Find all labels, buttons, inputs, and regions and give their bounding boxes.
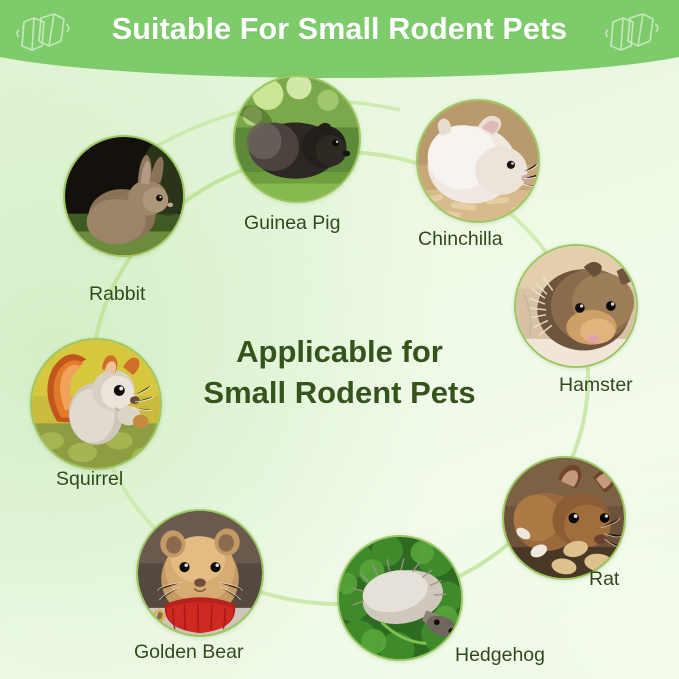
center-caption: Applicable for Small Rodent Pets xyxy=(140,331,540,413)
pet-label: Squirrel xyxy=(56,468,123,491)
pet-label: Hamster xyxy=(559,374,633,397)
pet-label: Chinchilla xyxy=(418,228,503,251)
center-caption-line1: Applicable for xyxy=(140,331,540,372)
pet-label: Rabbit xyxy=(89,283,145,306)
promo-infographic: Suitable For Small Rodent Pets xyxy=(0,0,679,679)
hedgehog-photo xyxy=(337,535,463,661)
center-caption-line2: Small Rodent Pets xyxy=(140,372,540,413)
golden-bear-photo xyxy=(136,509,264,637)
chinchilla-photo xyxy=(416,99,540,223)
rabbit-photo xyxy=(63,135,185,257)
guinea-pig-photo xyxy=(233,75,361,203)
pet-label: Guinea Pig xyxy=(244,212,340,235)
pet-label: Golden Bear xyxy=(134,641,244,664)
pet-label: Rat xyxy=(589,568,619,591)
rat-photo xyxy=(502,456,626,580)
pet-label: Hedgehog xyxy=(455,644,545,667)
